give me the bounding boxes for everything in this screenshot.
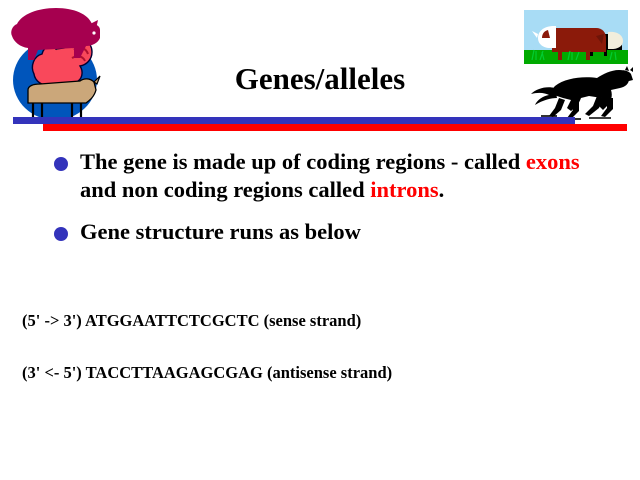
list-item: Gene structure runs as below	[52, 218, 592, 246]
keyword-introns: introns	[370, 177, 438, 202]
bullet-line-2-post: and non coding regions	[80, 177, 303, 202]
list-item: The gene is made up of coding regions - …	[52, 148, 592, 204]
bullet-text-exons-introns: The gene is made up of coding regions - …	[80, 148, 592, 204]
bullet-line-3-post: .	[439, 177, 445, 202]
bullet-dot-icon	[54, 227, 68, 241]
bullet-list: The gene is made up of coding regions - …	[52, 148, 592, 252]
divider-bar-red	[43, 124, 627, 131]
bullet-text-gene-structure: Gene structure runs as below	[80, 218, 592, 246]
presentation-slide: Genes/alleles The gene is made up of cod…	[0, 0, 640, 480]
sense-strand-line: (5' -> 3') ATGGAATTCTCGCTC (sense strand…	[22, 311, 361, 331]
antisense-strand-line: (3' <- 5') TACCTTAAGAGCGAG (antisense st…	[22, 363, 392, 383]
divider-bar-blue	[13, 117, 575, 124]
bullet-line-1: The gene is made up of coding regions -	[80, 149, 458, 174]
bullet-line-3-pre: called	[308, 177, 370, 202]
bullet-line-2-pre: called	[464, 149, 526, 174]
bullet-dot-icon	[54, 157, 68, 171]
page-title: Genes/alleles	[0, 61, 640, 97]
keyword-exons: exons	[526, 149, 580, 174]
cattle-photo	[524, 10, 628, 64]
